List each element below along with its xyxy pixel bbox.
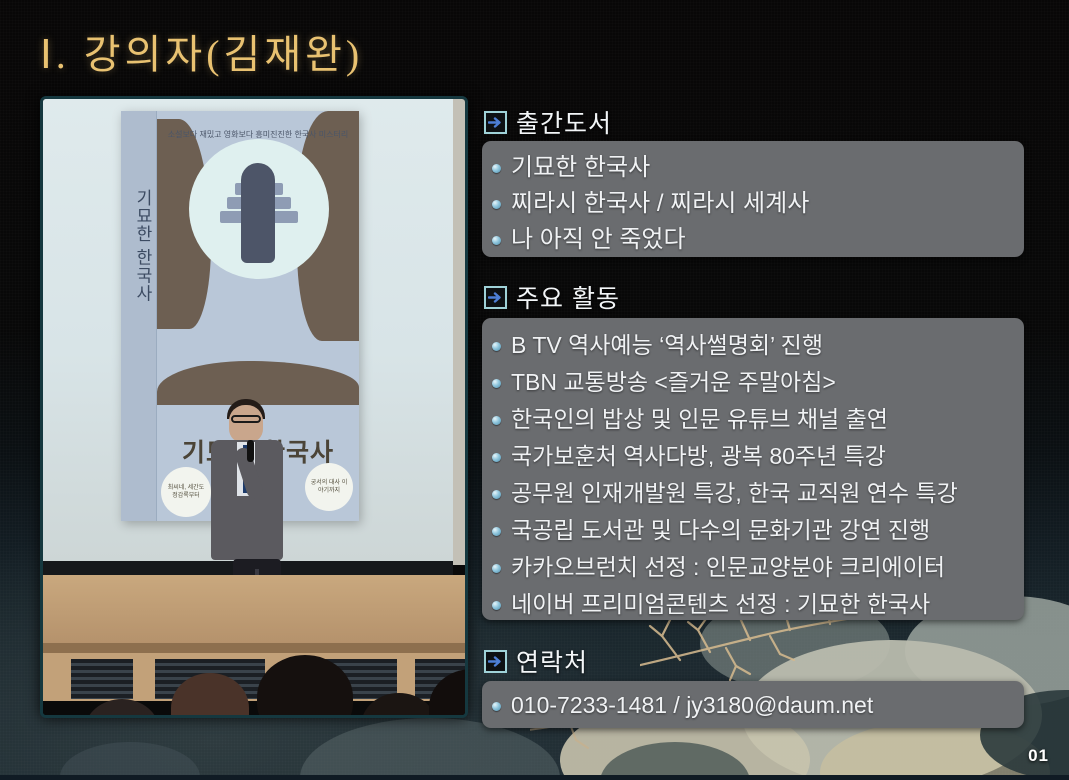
- list-item: 기묘한 한국사: [492, 150, 1010, 186]
- stage-floor: [43, 575, 465, 647]
- list-item-label: 공무원 인재개발원 특강, 한국 교직원 연수 특강: [511, 475, 958, 512]
- list-item-label: 한국인의 밥상 및 인문 유튜브 채널 출연: [511, 401, 888, 438]
- list-item-label: 국가보훈처 역사다방, 광복 80주년 특강: [511, 438, 886, 475]
- bullet-icon: [492, 200, 501, 209]
- panel-books: 기묘한 한국사 찌라시 한국사 / 찌라시 세계사 나 아직 안 죽었다: [482, 141, 1024, 257]
- bottom-strip: [0, 775, 1069, 780]
- list-item-label: 기묘한 한국사: [511, 150, 650, 186]
- list-item-label: TBN 교통방송 <즐거운 주말아침>: [511, 364, 836, 401]
- bullet-icon: [492, 527, 501, 536]
- arrow-right-box-icon: [484, 111, 507, 134]
- bullet-icon: [492, 236, 501, 245]
- bullet-icon: [492, 564, 501, 573]
- list-item: 카카오브런치 선정 : 인문교양분야 크리에이터: [492, 549, 1010, 586]
- list-item: 공무원 인재개발원 특강, 한국 교직원 연수 특강: [492, 475, 1010, 512]
- section-title-books: 출간도서: [516, 104, 612, 140]
- list-item: 한국인의 밥상 및 인문 유튜브 채널 출연: [492, 401, 1010, 438]
- bullet-icon: [492, 416, 501, 425]
- list-item-label: 찌라시 한국사 / 찌라시 세계사: [511, 186, 809, 222]
- list-item: 나 아직 안 죽었다: [492, 222, 1010, 258]
- bullet-icon: [492, 453, 501, 462]
- speaker-glasses: [231, 415, 261, 423]
- bullet-icon: [492, 702, 501, 711]
- book-spine-title: 기묘한 한국사: [127, 189, 151, 303]
- list-item: TBN 교통방송 <즐거운 주말아침>: [492, 364, 1010, 401]
- list-item-label: 카카오브런치 선정 : 인문교양분야 크리에이터: [511, 549, 945, 586]
- list-item: B TV 역사예능 ‘역사썰명회’ 진행: [492, 327, 1010, 364]
- list-item: 네이버 프리미엄콘텐츠 선정 : 기묘한 한국사: [492, 586, 1010, 623]
- contact-value: 010-7233-1481 / jy3180@daum.net: [511, 690, 873, 720]
- arrow-right-box-icon: [484, 286, 507, 309]
- stage-vent: [71, 659, 133, 699]
- bullet-icon: [492, 164, 501, 173]
- book-figure: [241, 163, 275, 263]
- book-seal-left: 최씨네, 세간도 정감록부터: [161, 467, 211, 517]
- bullet-icon: [492, 379, 501, 388]
- projection-screen: 기묘한 한국사 소설보다 재밌고 영화보다 흥미진진한 한국사 미스터리 기묘한…: [43, 99, 453, 563]
- slide-canvas: Ⅰ. 강의자(김재완) 기묘한 한국사 소: [0, 0, 1069, 780]
- book-cover-tagline: 소설보다 재밌고 영화보다 흥미진진한 한국사 미스터리: [157, 129, 359, 141]
- list-item: 찌라시 한국사 / 찌라시 세계사: [492, 186, 1010, 222]
- book-seal-right: 궁서의 대사 이야기까지: [305, 463, 353, 511]
- list-item: 010-7233-1481 / jy3180@daum.net: [492, 690, 1010, 720]
- microphone-icon: [247, 440, 254, 462]
- lecture-photo-frame: 기묘한 한국사 소설보다 재밌고 영화보다 흥미진진한 한국사 미스터리 기묘한…: [40, 96, 468, 718]
- arrow-right-box-icon: [484, 650, 507, 673]
- bullet-icon: [492, 342, 501, 351]
- book-spine: 기묘한 한국사: [121, 111, 157, 521]
- section-header-books: 출간도서: [484, 104, 612, 140]
- list-item-label: 네이버 프리미엄콘텐츠 선정 : 기묘한 한국사: [511, 586, 930, 623]
- section-header-contact: 연락처: [484, 643, 588, 679]
- list-item: 국공립 도서관 및 다수의 문화기관 강연 진행: [492, 512, 1010, 549]
- stage-edge: [43, 643, 465, 653]
- list-item: 국가보훈처 역사다방, 광복 80주년 특강: [492, 438, 1010, 475]
- section-title-contact: 연락처: [516, 643, 588, 679]
- panel-contact: 010-7233-1481 / jy3180@daum.net: [482, 681, 1024, 728]
- page-title: Ⅰ. 강의자(김재완): [40, 22, 363, 80]
- list-item-label: B TV 역사예능 ‘역사썰명회’ 진행: [511, 327, 823, 364]
- list-item-label: 국공립 도서관 및 다수의 문화기관 강연 진행: [511, 512, 930, 549]
- contact-list: 010-7233-1481 / jy3180@daum.net: [492, 690, 1010, 720]
- bullet-icon: [492, 601, 501, 610]
- section-header-activity: 주요 활동: [484, 279, 620, 315]
- lecture-photo: 기묘한 한국사 소설보다 재밌고 영화보다 흥미진진한 한국사 미스터리 기묘한…: [43, 99, 465, 715]
- audience-head: [85, 699, 159, 715]
- section-title-activity: 주요 활동: [516, 279, 620, 315]
- books-list: 기묘한 한국사 찌라시 한국사 / 찌라시 세계사 나 아직 안 죽었다: [492, 150, 1010, 258]
- panel-activity: B TV 역사예능 ‘역사썰명회’ 진행 TBN 교통방송 <즐거운 주말아침>…: [482, 318, 1024, 620]
- list-item-label: 나 아직 안 죽었다: [511, 222, 686, 258]
- activity-list: B TV 역사예능 ‘역사썰명회’ 진행 TBN 교통방송 <즐거운 주말아침>…: [492, 327, 1010, 623]
- page-number: 01: [1028, 746, 1049, 766]
- bullet-icon: [492, 490, 501, 499]
- speaker-head: [229, 405, 263, 443]
- book-ground: [157, 361, 359, 405]
